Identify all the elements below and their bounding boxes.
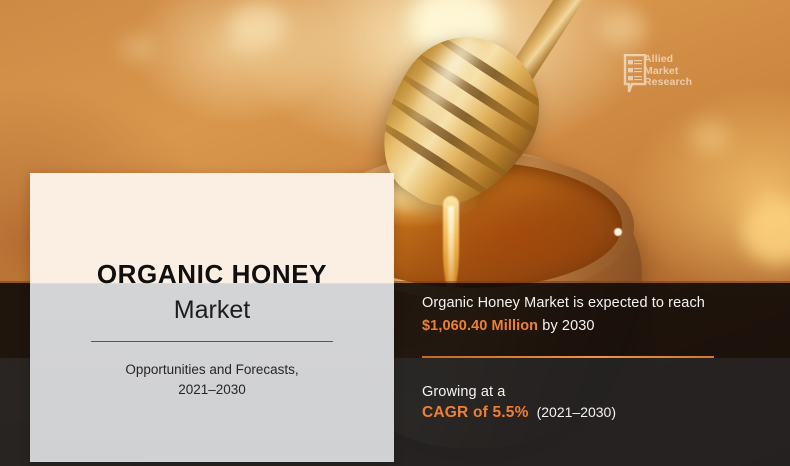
forecast-statement: Organic Honey Market is expected to reac…: [422, 292, 762, 339]
cagr-row: CAGR of 5.5% (2021–2030): [422, 404, 762, 422]
cagr-value: CAGR of 5.5%: [422, 404, 529, 422]
logo-line-2: Market: [644, 65, 678, 77]
logo-line-3: Research: [644, 76, 692, 88]
title-divider: [91, 341, 333, 342]
stats-panel: Organic Honey Market is expected to reac…: [422, 292, 762, 422]
market-report-banner: Allied Market Research ORGANIC HONEY Mar…: [0, 0, 790, 466]
honey-drip-highlight: [448, 206, 454, 286]
allied-market-research-logo[interactable]: Allied Market Research: [623, 52, 719, 98]
forecast-prefix: Organic Honey Market is expected to reac…: [422, 295, 705, 311]
report-scope-text: Opportunities and Forecasts, 2021–2030: [82, 360, 342, 401]
bokeh-light: [228, 4, 286, 48]
bokeh-light: [120, 34, 154, 62]
stats-divider: [422, 356, 714, 358]
logo-line-1: Allied: [644, 53, 673, 65]
honey-specular-dot: [614, 228, 622, 236]
forecast-suffix: by 2030: [538, 318, 594, 334]
bokeh-light: [690, 120, 730, 154]
bokeh-light: [600, 10, 646, 46]
cagr-label: Growing at a: [422, 381, 762, 404]
cagr-statement: Growing at a CAGR of 5.5% (2021–2030): [422, 381, 762, 422]
logo-wordmark: Allied Market Research: [644, 54, 692, 89]
forecast-value: $1,060.40 Million: [422, 318, 538, 334]
page-subtitle: Market: [174, 298, 250, 323]
page-title: ORGANIC HONEY: [97, 261, 327, 287]
report-title-card: ORGANIC HONEY Market Opportunities and F…: [30, 173, 394, 462]
cagr-period: (2021–2030): [537, 404, 616, 420]
